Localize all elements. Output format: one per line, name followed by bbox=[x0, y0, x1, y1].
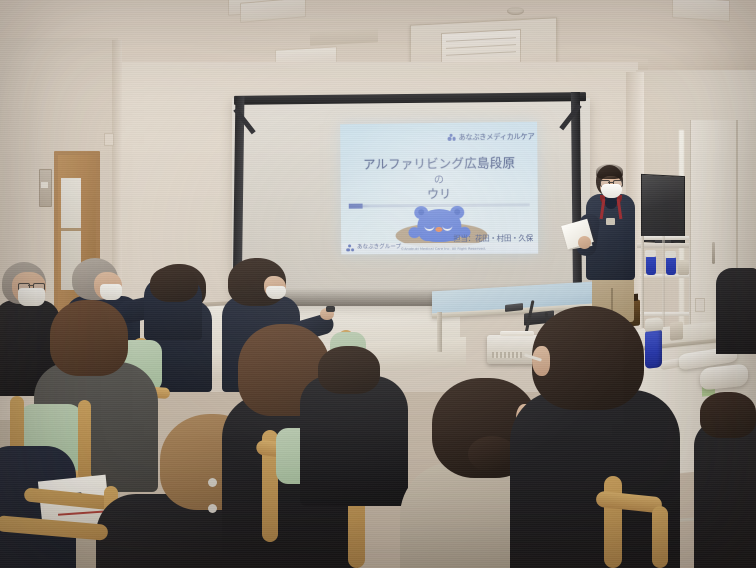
light-switch-panel[interactable] bbox=[39, 169, 52, 207]
spray-bottle-nozzle bbox=[645, 250, 656, 257]
projection-screen-assembly: あなぶきメディカルケア アルファリビング広島段原 の ウリ 担当：花田・村田・久… bbox=[232, 92, 592, 310]
slide-divider-accent bbox=[349, 204, 363, 209]
spray-bottle bbox=[666, 257, 676, 275]
presenter-hair bbox=[596, 164, 623, 179]
presenter-hand bbox=[578, 236, 591, 249]
audience-body bbox=[694, 420, 756, 568]
slide-title-sub: ウリ bbox=[353, 184, 527, 202]
face-mask bbox=[266, 286, 286, 299]
audience-hair bbox=[700, 392, 756, 438]
slide-logo-text: あなぶきメディカルケア bbox=[459, 132, 535, 143]
chair-frame[interactable] bbox=[78, 400, 91, 480]
projector-top-panel bbox=[500, 331, 534, 336]
chair-frame[interactable] bbox=[604, 476, 622, 568]
seminar-room-photo: あなぶきメディカルケア アルファリビング広島段原 の ウリ 担当：花田・村田・久… bbox=[0, 0, 756, 568]
chair-frame[interactable] bbox=[652, 506, 668, 568]
face-mask bbox=[18, 288, 45, 306]
button-detail bbox=[208, 504, 217, 513]
wall-plate bbox=[104, 133, 114, 146]
light-switch-button[interactable] bbox=[41, 182, 48, 188]
hair-bun bbox=[468, 436, 516, 472]
audience-hair bbox=[150, 266, 198, 302]
slide-logo: あなぶきメディカルケア bbox=[448, 131, 535, 144]
face-mask bbox=[100, 284, 122, 300]
door-window-mullion bbox=[61, 228, 81, 231]
jar bbox=[670, 321, 683, 340]
slide-divider bbox=[349, 203, 530, 207]
mascot-nose bbox=[435, 227, 442, 232]
projector-vent bbox=[492, 352, 522, 358]
rack-box bbox=[678, 260, 689, 275]
spray-bottle bbox=[645, 329, 662, 369]
spray-bottle bbox=[646, 256, 656, 275]
table-leg bbox=[437, 312, 442, 352]
storage-rack bbox=[640, 230, 696, 328]
button-detail bbox=[208, 478, 217, 487]
spray-bottle-nozzle bbox=[645, 317, 663, 332]
anabuki-group-logo-icon bbox=[346, 244, 355, 253]
cabinet-handle[interactable] bbox=[712, 242, 715, 264]
slide-footer-copyright: ©Anabuki Medical Care Inc. All Right Res… bbox=[401, 247, 486, 251]
projected-slide: あなぶきメディカルケア アルファリビング広島段原 の ウリ 担当：花田・村田・久… bbox=[340, 122, 538, 255]
audience-body bbox=[716, 268, 756, 354]
smoke-detector-icon bbox=[507, 7, 524, 15]
spray-bottle-nozzle bbox=[665, 251, 676, 258]
audience-hair bbox=[50, 300, 128, 376]
audience-hair bbox=[318, 346, 380, 394]
id-badge bbox=[606, 218, 615, 225]
cabinet-plate bbox=[695, 298, 705, 312]
anabuki-logo-icon bbox=[448, 133, 457, 142]
audience-body bbox=[300, 376, 408, 506]
remote-control[interactable] bbox=[326, 306, 335, 312]
slide-footer-brand: あなぶきグループ bbox=[357, 244, 401, 251]
